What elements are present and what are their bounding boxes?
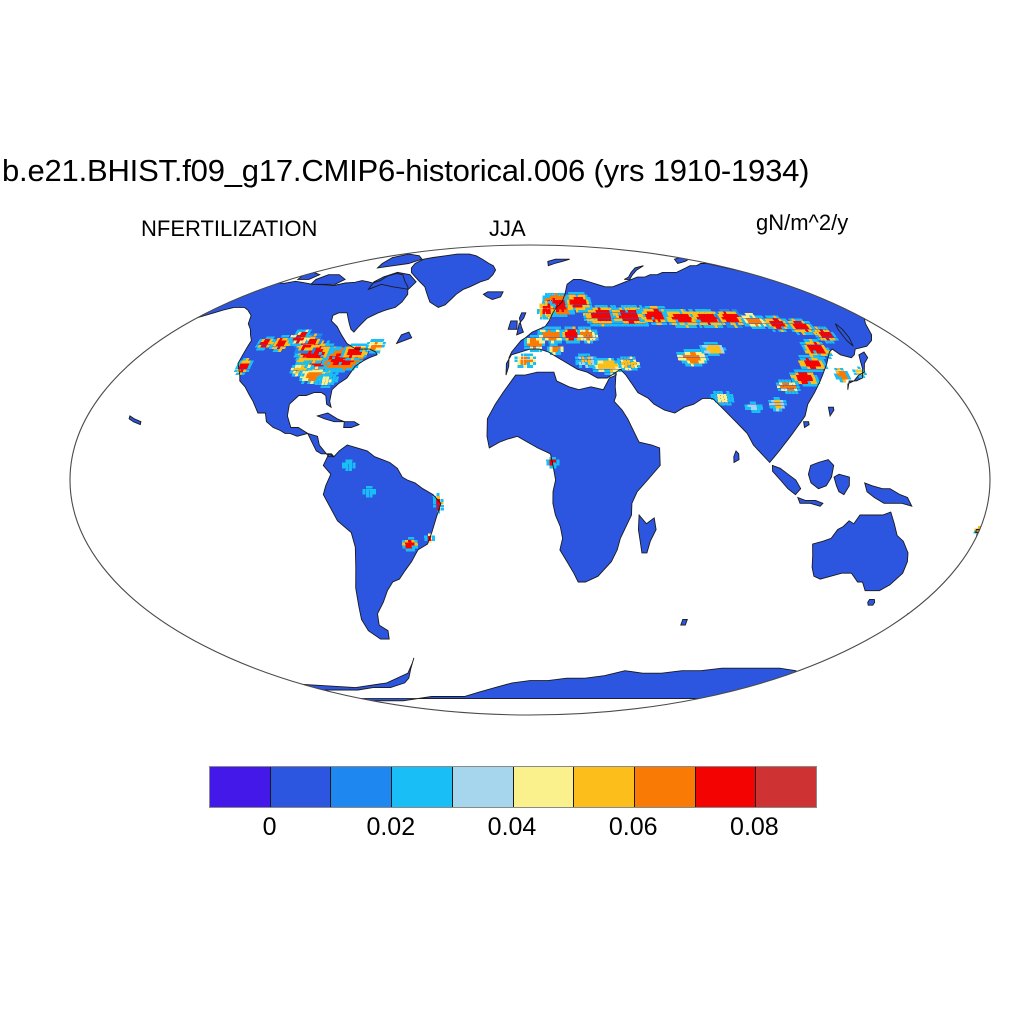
grid-cell-15-5-5	[550, 304, 553, 306]
grid-cell-32-8-2	[615, 366, 618, 369]
grid-cell-26-5-0	[551, 341, 554, 344]
grid-cell-52-1-1	[345, 466, 348, 469]
grid-cell-30-3-4	[524, 353, 527, 356]
grid-cell-34-3-0	[585, 365, 588, 368]
grid-cell-49-2-1	[553, 463, 556, 466]
grid-cell-33-5-4	[632, 356, 635, 359]
grid-cell-29-2-3	[530, 341, 533, 344]
grid-cell-48-2-2	[432, 536, 435, 539]
grid-cell-15-2-2	[543, 312, 546, 315]
grid-cell-26-2-3	[543, 332, 546, 335]
colorbar-band-9[interactable]	[756, 767, 816, 807]
grid-cell-13-5-6	[555, 300, 558, 302]
grid-cell-16-0-5	[582, 310, 585, 313]
grid-cell-16-2-6	[587, 307, 590, 310]
grid-cell-43-2-0	[776, 409, 780, 412]
grid-cell-13-4-8	[552, 295, 555, 297]
grid-cell-32-8-3	[615, 364, 618, 367]
grid-cell-26-7-4	[556, 329, 559, 332]
colorbar-band-2[interactable]	[331, 767, 392, 807]
grid-cell-44-2-3	[717, 394, 721, 397]
grid-cell-28-2-0	[584, 341, 587, 344]
grid-cell-28-1-2	[580, 335, 583, 338]
grid-cell-33-0-2	[618, 362, 621, 365]
grid-cell-52-0-1	[342, 466, 345, 469]
grid-cell-16-1-4	[585, 313, 588, 316]
grid-cell-13-7-1	[562, 312, 565, 315]
grid-cell-52-1-3	[346, 460, 349, 463]
grid-cell-29-4-5	[536, 335, 539, 338]
grid-cell-33-1-1	[621, 365, 624, 368]
grid-cell-44-1-2	[714, 397, 718, 400]
grid-cell-33-5-2	[633, 362, 636, 365]
grid-cell-26-6-1	[554, 338, 557, 341]
grid-cell-44-1-3	[714, 394, 718, 397]
grid-cell-46-4-2	[415, 543, 418, 546]
grid-cell-29-2-0	[530, 349, 533, 352]
grid-cell-32-4-3	[603, 364, 606, 367]
grid-cell-32-4-1	[604, 369, 607, 372]
grid-cell-28-0-2	[577, 335, 580, 338]
grid-cell-28-4-4	[588, 329, 591, 332]
colorbar-band-7[interactable]	[635, 767, 696, 807]
grid-cell-26-6-4	[553, 329, 556, 332]
season-label: JJA	[489, 216, 526, 242]
grid-cell-44-5-1	[728, 400, 732, 403]
grid-cell-51-3-1	[373, 492, 376, 495]
grid-cell-27-2-1	[565, 338, 568, 341]
grid-cell-32-3-5	[600, 358, 603, 361]
grid-cell-34-5-3	[590, 356, 593, 359]
grid-cell-27-5-0	[574, 341, 577, 344]
grid-cell-16-4-2	[595, 318, 598, 321]
grid-cell-33-6-1	[637, 365, 640, 368]
grid-cell-46-4-1	[415, 546, 418, 549]
grid-cell-44-4-2	[724, 397, 728, 400]
grid-cell-15-6-1	[554, 314, 557, 317]
colorbar-tick-0: 0	[263, 812, 277, 842]
grid-cell-33-4-1	[631, 365, 634, 368]
grid-cell-26-7-3	[556, 332, 559, 335]
grid-cell-27-1-4	[562, 329, 565, 332]
grid-cell-26-4-0	[548, 341, 551, 344]
grid-cell-14-0-5	[564, 297, 567, 299]
grid-cell-29-0-3	[524, 341, 527, 344]
grid-cell-15-3-0	[546, 317, 549, 320]
grid-cell-15-1-1	[540, 314, 543, 317]
grid-cell-13-5-0	[557, 314, 560, 317]
grid-cell-52-1-0	[345, 468, 348, 471]
grid-cell-13-6-6	[558, 300, 561, 302]
grid-cell-46-1-1	[405, 546, 408, 549]
grid-cell-14-2-2	[570, 305, 573, 307]
grid-cell-44-3-3	[720, 394, 724, 397]
grid-cell-34-1-1	[579, 362, 582, 365]
grid-cell-15-3-3	[545, 309, 548, 312]
colorbar-band-8[interactable]	[696, 767, 757, 807]
grid-cell-49-3-1	[556, 463, 559, 466]
grid-cell-51-2-3	[369, 486, 372, 489]
grid-cell-30-1-1	[518, 362, 521, 365]
grid-cell-28-3-1	[587, 338, 590, 341]
grid-cell-45-3-3	[753, 401, 757, 404]
grid-cell-47-2-4	[440, 499, 443, 502]
colorbar-tick-1: 0.02	[366, 812, 415, 842]
grid-cell-28-3-3	[586, 332, 589, 335]
grid-cell-28-4-2	[589, 335, 592, 338]
grid-cell-13-2-7	[548, 298, 551, 300]
grid-cell-13-0-8	[542, 295, 545, 297]
grid-cell-34-4-0	[588, 365, 591, 368]
grid-cell-28-2-3	[583, 332, 586, 335]
grid-cell-30-4-4	[527, 353, 530, 356]
grid-cell-33-4-0	[631, 368, 634, 371]
grid-cell-15-4-5	[548, 304, 551, 306]
grid-cell-15-3-2	[545, 312, 548, 315]
grid-cell-14-2-3	[570, 302, 573, 304]
grid-cell-30-3-0	[524, 365, 527, 368]
grid-cell-44-3-1	[721, 400, 725, 403]
grid-cell-34-2-4	[581, 353, 584, 356]
grid-cell-15-5-6	[550, 301, 553, 303]
grid-cell-16-1-2	[586, 318, 589, 321]
grid-cell-47-0-3	[433, 502, 436, 505]
map-svg	[60, 240, 1000, 720]
grid-cell-14-1-0	[568, 310, 571, 313]
grid-cell-30-0-3	[515, 356, 518, 359]
grid-cell-13-2-8	[547, 295, 550, 297]
grid-cell-27-2-3	[565, 332, 568, 335]
grid-cell-43-3-0	[779, 409, 783, 412]
grid-cell-14-3-1	[573, 307, 576, 310]
grid-cell-26-1-3	[540, 332, 543, 335]
grid-cell-32-3-4	[600, 361, 603, 364]
grid-cell-31-4-1	[558, 349, 561, 352]
grid-cell-28-4-3	[589, 332, 592, 335]
grid-cell-46-3-4	[411, 537, 414, 540]
grid-cell-45-2-0	[751, 410, 755, 413]
grid-cell-26-6-3	[553, 332, 556, 335]
grid-cell-49-0-2	[546, 460, 549, 463]
grid-cell-44-5-2	[727, 397, 731, 400]
grid-cell-29-4-0	[536, 349, 539, 352]
grid-cell-34-4-3	[587, 356, 590, 359]
grid-cell-32-6-2	[609, 366, 612, 369]
grid-cell-29-3-4	[533, 338, 536, 341]
grid-cell-16-2-5	[588, 310, 591, 313]
grid-cell-34-3-4	[584, 353, 587, 356]
grid-cell-13-3-7	[550, 298, 553, 300]
grid-cell-26-7-2	[556, 335, 559, 338]
grid-cell-29-3-5	[533, 335, 536, 338]
grid-cell-28-4-5	[588, 327, 591, 330]
grid-cell-27-5-5	[573, 327, 576, 330]
grid-cell-34-5-0	[591, 365, 594, 368]
grid-cell-33-6-2	[637, 362, 640, 365]
grid-cell-16-2-2	[589, 318, 592, 321]
grid-cell-26-6-0	[554, 341, 557, 344]
grid-cell-26-5-1	[551, 338, 554, 341]
colorbar-tick-3: 0.06	[609, 812, 658, 842]
grid-cell-33-2-3	[624, 359, 627, 362]
grid-cell-31-3-0	[555, 352, 558, 355]
grid-cell-15-0-2	[537, 312, 540, 315]
grid-cell-15-2-3	[542, 309, 545, 312]
colorbar-band-3[interactable]	[392, 767, 453, 807]
grid-cell-44-6-3	[730, 394, 734, 397]
grid-cell-52-3-2	[352, 463, 355, 466]
grid-cell-26-7-5	[556, 327, 559, 330]
grid-cell-44-5-3	[727, 394, 731, 397]
grid-cell-29-2-2	[530, 343, 533, 346]
colorbar-band-4[interactable]	[453, 767, 514, 807]
grid-cell-29-6-2	[542, 343, 545, 346]
grid-cell-15-3-5	[545, 304, 548, 306]
grid-cell-16-4-1	[595, 321, 598, 324]
grid-cell-44-6-1	[731, 400, 735, 403]
grid-cell-29-1-4	[527, 338, 530, 341]
grid-cell-26-4-4	[548, 329, 551, 332]
grid-cell-51-1-0	[366, 495, 369, 498]
colorbar-band-6[interactable]	[574, 767, 635, 807]
grid-cell-52-1-2	[346, 463, 349, 466]
grid-cell-27-1-3	[562, 332, 565, 335]
grid-cell-46-2-1	[409, 546, 412, 549]
grid-cell-51-1-2	[366, 489, 369, 492]
grid-cell-13-6-2	[559, 309, 562, 312]
grid-cell-43-1-0	[773, 409, 777, 412]
grid-cell-33-2-0	[625, 368, 628, 371]
grid-cell-29-1-1	[527, 346, 530, 349]
grid-cell-34-6-1	[594, 362, 597, 365]
grid-cell-26-6-2	[553, 335, 556, 338]
grid-cell-27-0-3	[559, 332, 562, 335]
grid-cell-31-3-2	[555, 346, 558, 349]
grid-cell-13-6-3	[559, 307, 562, 310]
colorbar-band-5[interactable]	[514, 767, 575, 807]
grid-cell-52-2-0	[349, 468, 352, 471]
grid-cell-27-4-1	[571, 338, 574, 341]
grid-cell-32-2-5	[597, 358, 600, 361]
grid-cell-51-0-1	[362, 492, 365, 495]
grid-cell-31-1-3	[549, 343, 552, 346]
grid-cell-26-2-2	[543, 335, 546, 338]
grid-cell-44-2-4	[716, 391, 720, 394]
grid-cell-13-6-9	[557, 293, 560, 295]
grid-cell-32-6-3	[609, 364, 612, 367]
grid-cell-28-0-4	[577, 329, 580, 332]
grid-cell-32-4-2	[604, 366, 607, 369]
grid-cell-49-2-3	[553, 457, 556, 460]
grid-cell-34-0-3	[575, 356, 578, 359]
grid-cell-16-6-1	[601, 321, 604, 324]
grid-cell-52-3-1	[352, 466, 355, 469]
grid-cell-45-5-1	[760, 407, 764, 410]
grid-cell-16-3-1	[592, 321, 595, 324]
grid-cell-13-5-5	[556, 302, 559, 304]
grid-cell-30-6-3	[533, 356, 536, 359]
grid-cell-29-2-5	[530, 335, 533, 338]
grid-cell-28-1-3	[580, 332, 583, 335]
grid-cell-15-5-3	[551, 309, 554, 312]
grid-cell-15-4-6	[547, 301, 550, 303]
grid-cell-26-3-2	[545, 335, 548, 338]
grid-cell-45-3-1	[754, 407, 758, 410]
grid-cell-26-2-4	[543, 329, 546, 332]
grid-cell-32-1-2	[595, 366, 598, 369]
grid-cell-32-7-1	[613, 369, 616, 372]
grid-cell-49-3-2	[556, 460, 559, 463]
grid-cell-46-3-3	[411, 540, 414, 543]
grid-cell-13-8-3	[564, 307, 567, 310]
grid-cell-51-3-2	[373, 489, 376, 492]
grid-cell-46-3-1	[412, 546, 415, 549]
grid-cell-15-2-1	[543, 314, 546, 317]
grid-cell-27-4-5	[570, 327, 573, 330]
grid-cell-30-1-2	[518, 359, 521, 362]
grid-cell-45-4-1	[757, 407, 761, 410]
grid-cell-26-6-5	[553, 327, 556, 330]
grid-cell-31-1-2	[550, 346, 553, 349]
grid-cell-48-0-1	[424, 538, 427, 541]
grid-cell-26-0-3	[537, 332, 540, 335]
grid-cell-30-2-4	[521, 353, 524, 356]
grid-cell-28-3-4	[585, 329, 588, 332]
colorbar-band-0[interactable]	[210, 767, 271, 807]
grid-cell-15-1-0	[540, 317, 543, 320]
grid-cell-30-1-0	[517, 365, 520, 368]
grid-cell-32-2-1	[598, 369, 601, 372]
grid-cell-27-3-3	[568, 332, 571, 335]
grid-cell-26-8-1	[559, 338, 562, 341]
grid-cell-27-0-2	[560, 335, 563, 338]
grid-cell-32-6-5	[608, 358, 611, 361]
grid-cell-26-5-4	[550, 329, 553, 332]
colorbar[interactable]	[209, 766, 817, 808]
grid-cell-44-3-4	[720, 391, 724, 394]
grid-cell-52-2-3	[349, 460, 352, 463]
grid-cell-30-5-1	[530, 362, 533, 365]
grid-cell-13-6-1	[559, 312, 562, 315]
grid-cell-15-4-2	[548, 312, 551, 315]
grid-cell-27-0-4	[559, 329, 562, 332]
grid-cell-34-1-0	[579, 365, 582, 368]
grid-cell-16-3-5	[590, 310, 593, 313]
grid-cell-28-6-1	[596, 338, 599, 341]
grid-cell-34-4-1	[588, 362, 591, 365]
grid-cell-28-2-1	[584, 338, 587, 341]
grid-cell-15-4-3	[548, 309, 551, 312]
grid-cell-32-4-0	[604, 372, 607, 375]
grid-cell-16-4-0	[596, 324, 599, 327]
grid-cell-15-1-2	[540, 312, 543, 315]
grid-cell-27-3-5	[567, 327, 570, 330]
grid-cell-16-7-0	[604, 324, 607, 327]
grid-cell-30-6-1	[533, 362, 536, 365]
grid-cell-45-0-1	[745, 407, 748, 410]
grid-cell-51-0-2	[362, 489, 365, 492]
grid-cell-43-5-3	[783, 400, 787, 403]
grid-cell-33-3-4	[626, 356, 629, 359]
grid-cell-29-3-3	[533, 341, 536, 344]
grid-cell-26-1-2	[540, 335, 543, 338]
grid-cell-45-1-1	[748, 407, 752, 410]
grid-cell-34-6-2	[594, 359, 597, 362]
grid-cell-16-2-1	[590, 321, 593, 324]
grid-cell-33-1-2	[621, 362, 624, 365]
grid-cell-29-4-1	[536, 346, 539, 349]
grid-cell-32-1-1	[596, 369, 599, 372]
grid-cell-30-5-0	[530, 365, 533, 368]
grid-cell-46-1-0	[406, 549, 409, 552]
grid-cell-46-2-2	[408, 543, 411, 546]
grid-cell-14-0-2	[565, 305, 568, 307]
grid-cell-33-4-2	[630, 362, 633, 365]
grid-cell-32-2-4	[597, 361, 600, 364]
grid-cell-13-7-3	[561, 307, 564, 310]
grid-cell-34-3-1	[585, 362, 588, 365]
grid-cell-45-2-1	[751, 407, 755, 410]
grid-cell-27-6-0	[577, 341, 580, 344]
grid-cell-33-1-0	[622, 368, 625, 371]
grid-cell-16-2-3	[589, 316, 592, 319]
grid-cell-46-2-0	[409, 549, 412, 552]
grid-cell-33-2-2	[624, 362, 627, 365]
grid-cell-44-4-0	[725, 403, 729, 406]
grid-cell-13-5-7	[555, 298, 558, 300]
grid-cell-46-1-2	[405, 543, 408, 546]
grid-cell-26-5-5	[550, 327, 553, 330]
grid-cell-46-0-3	[402, 540, 405, 543]
grid-cell-16-1-3	[586, 316, 589, 319]
grid-cell-32-7-4	[611, 361, 614, 364]
grid-cell-52-2-2	[349, 463, 352, 466]
grid-cell-33-5-3	[633, 359, 636, 362]
grid-cell-16-1-5	[585, 310, 588, 313]
grid-cell-30-0-2	[514, 359, 517, 362]
grid-cell-13-3-8	[550, 295, 553, 297]
grid-cell-32-3-1	[601, 369, 604, 372]
grid-cell-15-1-3	[540, 309, 543, 312]
grid-cell-28-5-4	[591, 329, 594, 332]
grid-cell-29-4-3	[536, 341, 539, 344]
grid-cell-32-4-4	[603, 361, 606, 364]
grid-cell-13-5-1	[556, 312, 559, 315]
grid-cell-16-1-1	[587, 321, 590, 324]
grid-cell-33-2-4	[623, 356, 626, 359]
colorbar-band-1[interactable]	[271, 767, 332, 807]
grid-cell-48-2-1	[432, 538, 435, 541]
grid-cell-28-2-5	[582, 327, 585, 330]
grid-cell-28-1-4	[580, 329, 583, 332]
grid-cell-31-4-0	[558, 352, 561, 355]
grid-cell-29-1-2	[527, 343, 530, 346]
grid-cell-45-4-0	[757, 410, 761, 413]
grid-cell-26-7-0	[556, 341, 559, 344]
grid-cell-13-7-0	[562, 314, 565, 317]
world-map	[60, 240, 1000, 720]
grid-cell-34-1-4	[578, 353, 581, 356]
grid-cell-26-3-5	[545, 327, 548, 330]
grid-cell-27-3-1	[568, 338, 571, 341]
grid-cell-44-4-3	[723, 394, 727, 397]
grid-cell-32-2-3	[598, 364, 601, 367]
grid-cell-29-0-2	[524, 343, 527, 346]
grid-cell-13-0-7	[543, 298, 546, 300]
grid-cell-27-5-3	[573, 332, 576, 335]
grid-cell-14-1-1	[568, 307, 571, 310]
grid-cell-14-2-0	[571, 310, 574, 313]
